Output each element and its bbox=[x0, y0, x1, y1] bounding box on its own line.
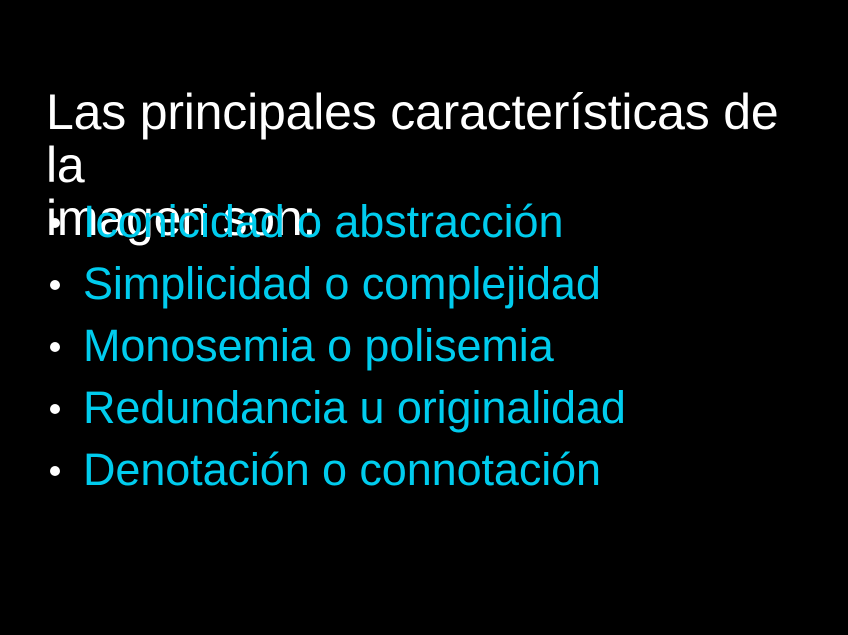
list-item-label: Iconicidad o abstracción bbox=[83, 197, 563, 247]
presentation-slide: Las principales características de la im… bbox=[0, 0, 848, 635]
bullet-dot-icon bbox=[50, 466, 60, 476]
bullet-dot-icon bbox=[50, 280, 60, 290]
bullet-list: Iconicidad o abstracción Simplicidad o c… bbox=[44, 197, 824, 507]
list-item-label: Redundancia u originalidad bbox=[83, 383, 626, 433]
list-item[interactable]: Monosemia o polisemia bbox=[44, 321, 824, 383]
list-item[interactable]: Simplicidad o complejidad bbox=[44, 259, 824, 321]
bullet-dot-icon bbox=[50, 218, 60, 228]
bullet-dot-icon bbox=[50, 404, 60, 414]
list-item[interactable]: Denotación o connotación bbox=[44, 445, 824, 507]
list-item-label: Monosemia o polisemia bbox=[83, 321, 554, 371]
bullet-dot-icon bbox=[50, 342, 60, 352]
list-item-label: Simplicidad o complejidad bbox=[83, 259, 601, 309]
list-item[interactable]: Redundancia u originalidad bbox=[44, 383, 824, 445]
list-item[interactable]: Iconicidad o abstracción bbox=[44, 197, 824, 259]
list-item-label: Denotación o connotación bbox=[83, 445, 601, 495]
